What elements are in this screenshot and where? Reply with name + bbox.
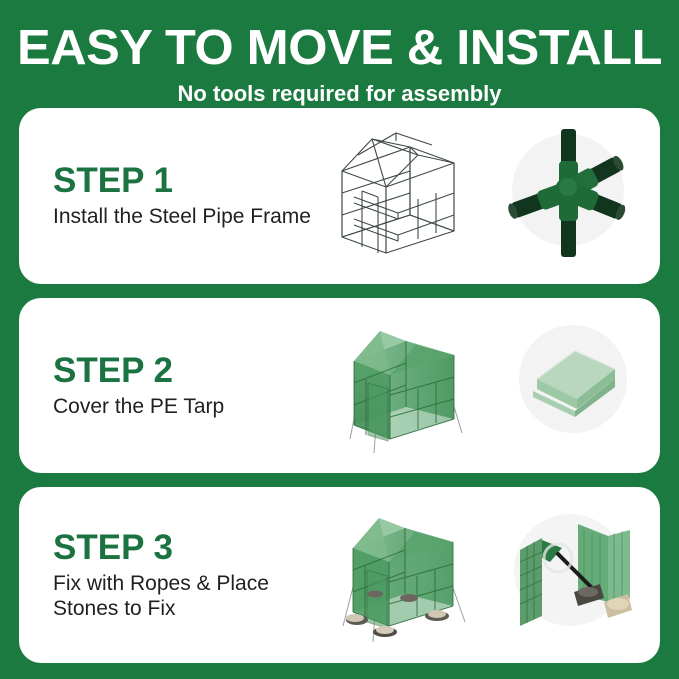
rope-stone-anchor-closeup-icon — [500, 506, 644, 645]
five-way-pipe-connector-icon — [491, 123, 641, 268]
step-3-art — [319, 487, 660, 663]
poster: EASY TO MOVE & INSTALL No tools required… — [0, 0, 679, 679]
step-1-art — [319, 108, 660, 284]
folded-pe-tarp-icon — [503, 317, 643, 454]
step-2-art — [319, 298, 660, 474]
greenhouse-wireframe-icon — [332, 119, 464, 272]
step-2-label: STEP 2 — [53, 352, 319, 390]
header: EASY TO MOVE & INSTALL No tools required… — [0, 0, 679, 108]
step-card-2: STEP 2 Cover the PE Tarp — [19, 298, 660, 474]
step-3-description: Fix with Ropes & Place Stones to Fix — [53, 571, 319, 621]
step-2-description: Cover the PE Tarp — [53, 394, 319, 419]
step-1-text: STEP 1 Install the Steel Pipe Frame — [19, 162, 319, 229]
step-3-text: STEP 3 Fix with Ropes & Place Stones to … — [19, 529, 319, 621]
step-1-label: STEP 1 — [53, 162, 319, 200]
greenhouse-with-stones-icon — [329, 498, 481, 653]
step-1-description: Install the Steel Pipe Frame — [53, 204, 319, 229]
steps-list: STEP 1 Install the Steel Pipe Frame — [0, 108, 679, 679]
greenhouse-covered-icon — [330, 307, 482, 464]
page-title: EASY TO MOVE & INSTALL — [0, 21, 679, 75]
page-subtitle: No tools required for assembly — [0, 80, 679, 108]
step-card-1: STEP 1 Install the Steel Pipe Frame — [19, 108, 660, 284]
step-card-3: STEP 3 Fix with Ropes & Place Stones to … — [19, 487, 660, 663]
step-3-label: STEP 3 — [53, 529, 319, 567]
step-2-text: STEP 2 Cover the PE Tarp — [19, 352, 319, 419]
